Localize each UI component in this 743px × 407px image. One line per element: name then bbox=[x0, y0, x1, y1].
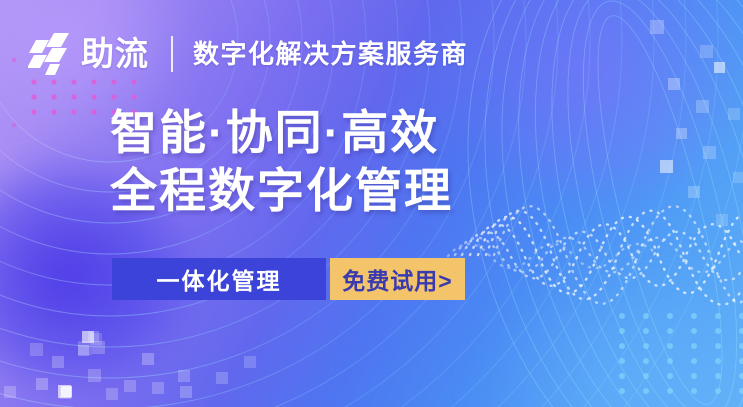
banner-content: 助流 数字化解决方案服务商 智能·协同·高效 全程数字化管理 一体化管理 免费试… bbox=[0, 0, 743, 407]
cta-row: 一体化管理 免费试用> bbox=[112, 258, 465, 300]
brand-tagline: 数字化解决方案服务商 bbox=[193, 31, 468, 77]
zhuliu-lightning-logo-icon bbox=[28, 31, 74, 77]
brand-name: 助流 bbox=[81, 31, 149, 77]
promo-banner: 助流 数字化解决方案服务商 智能·协同·高效 全程数字化管理 一体化管理 免费试… bbox=[0, 0, 743, 407]
free-trial-button[interactable]: 免费试用> bbox=[330, 258, 465, 300]
headline-line-2: 全程数字化管理 bbox=[110, 162, 453, 220]
brand-row: 助流 数字化解决方案服务商 bbox=[28, 30, 468, 78]
headline-line-1: 智能·协同·高效 bbox=[110, 104, 439, 162]
integrated-management-button[interactable]: 一体化管理 bbox=[112, 258, 326, 300]
brand-divider bbox=[171, 36, 173, 72]
